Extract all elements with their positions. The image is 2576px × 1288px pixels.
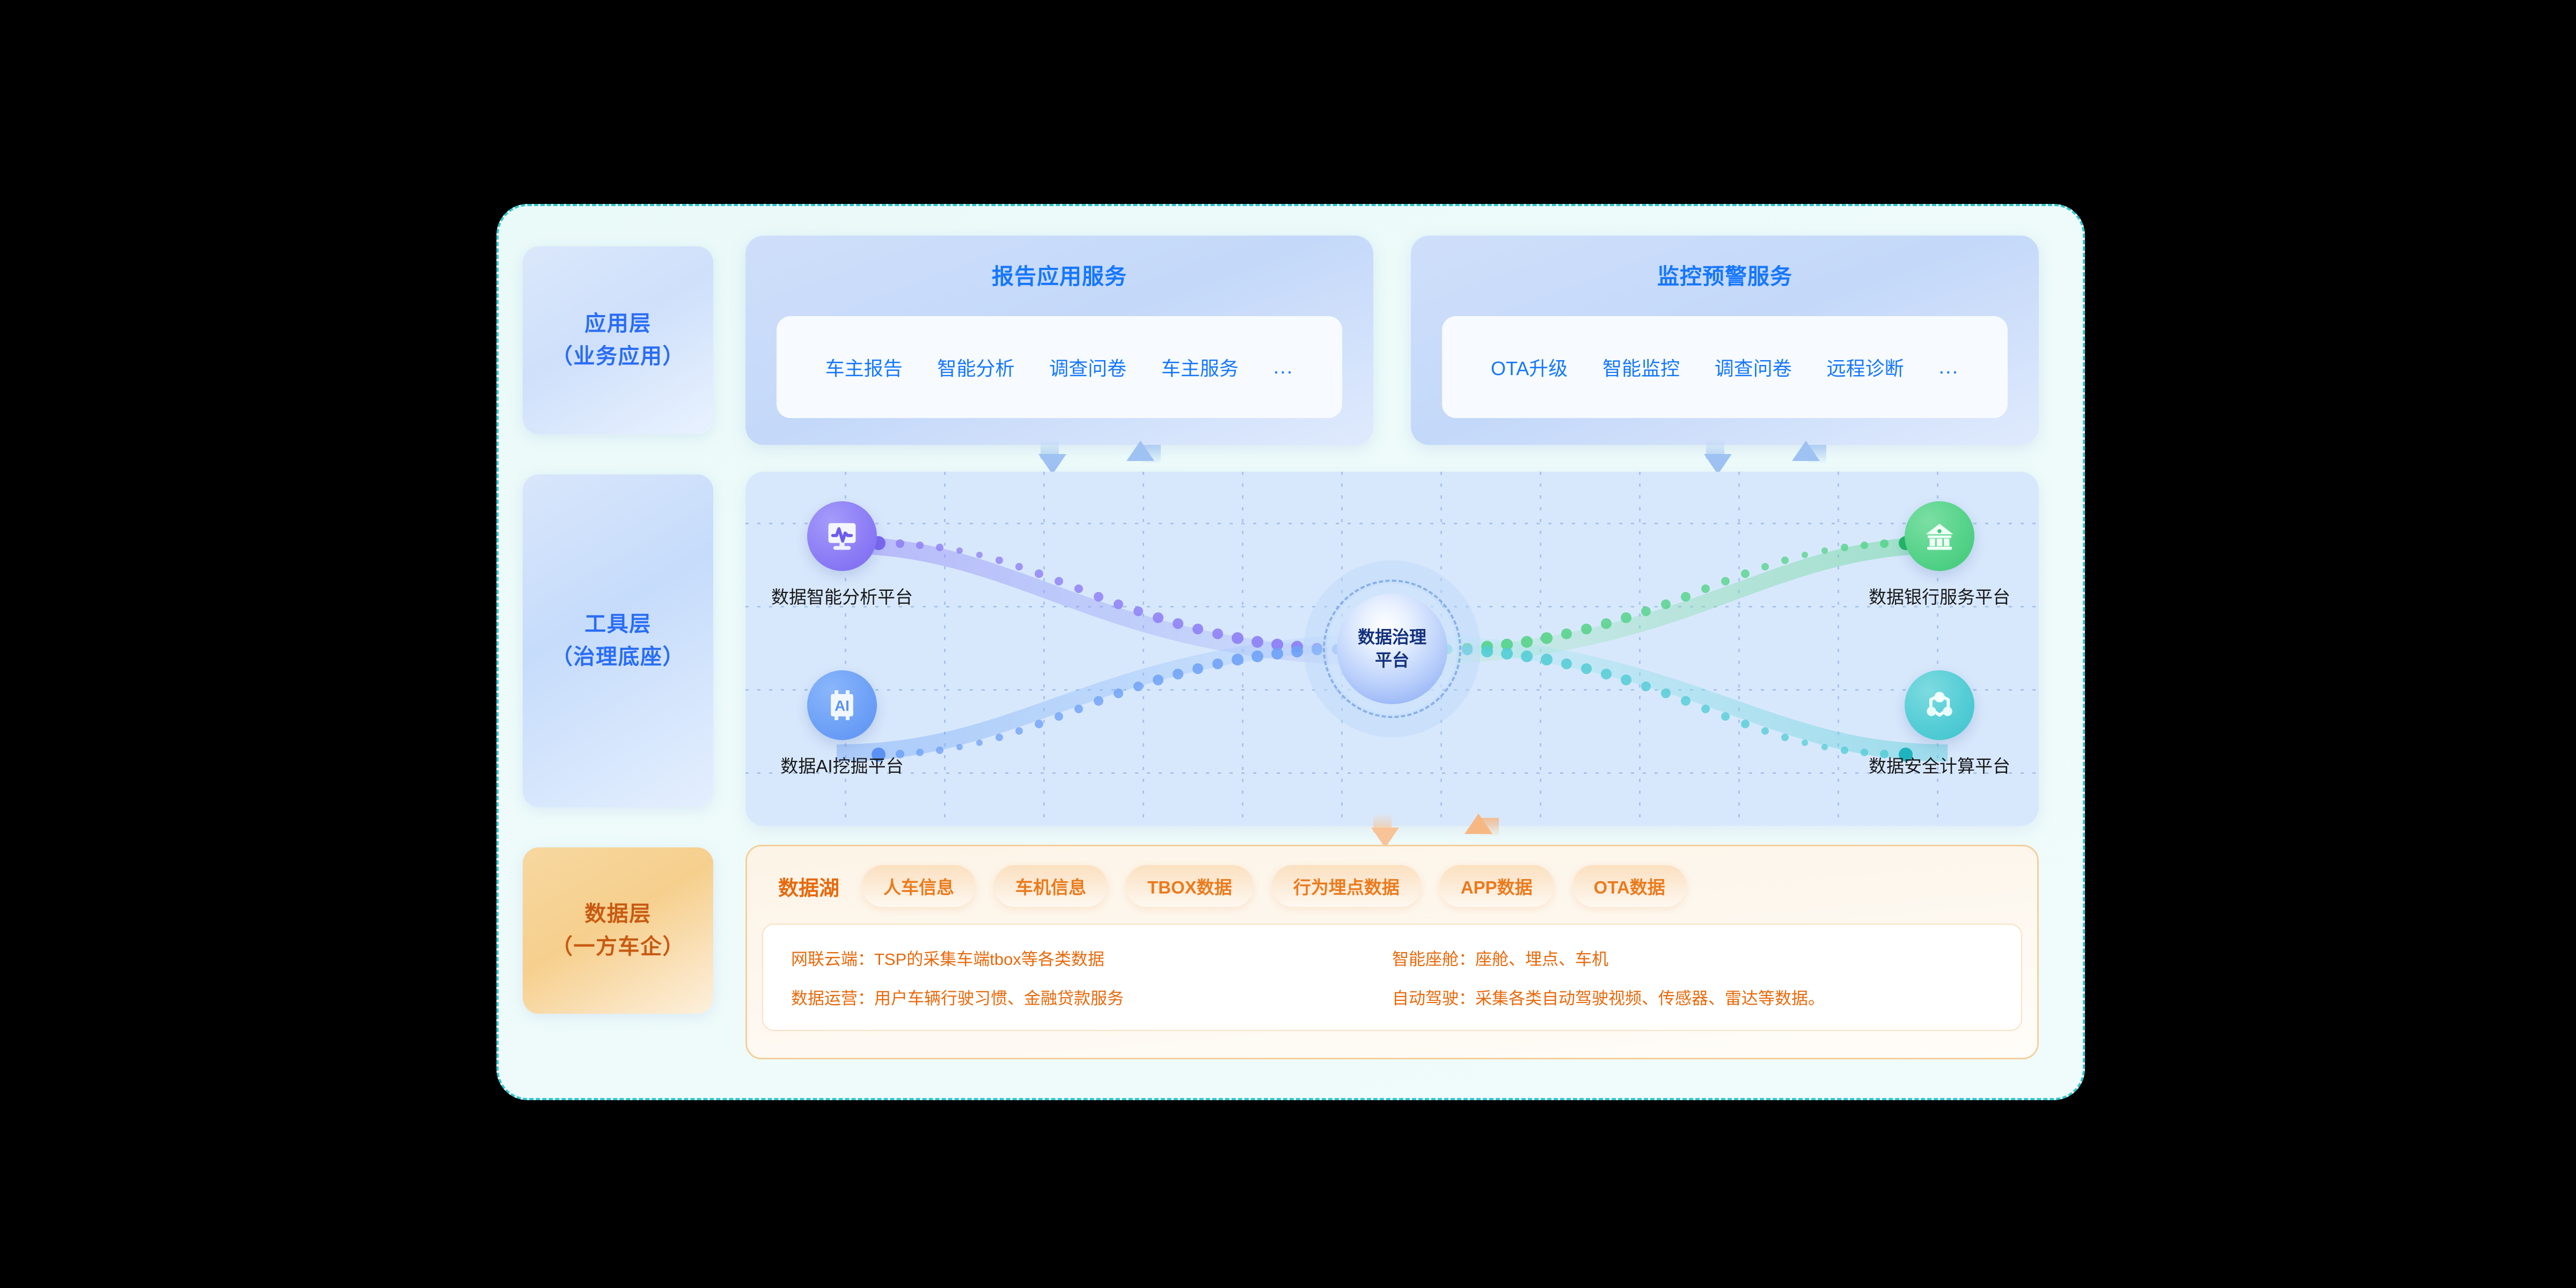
- monitor-waveform-icon: [807, 501, 877, 571]
- platform-label-bank: 数据银行服务平台: [1859, 583, 2020, 609]
- layer-data-sub: （一方车企）: [551, 931, 685, 963]
- data-lake-tag-1[interactable]: 车机信息: [994, 865, 1108, 907]
- arrow-up-right: [1792, 441, 1820, 461]
- service-report-item-2[interactable]: 调查问卷: [1049, 353, 1126, 381]
- platform-node-analysis[interactable]: 数据智能分析平台: [762, 501, 923, 609]
- ai-chip-icon: AI: [807, 670, 877, 740]
- hub-title-line2: 平台: [1375, 650, 1409, 670]
- arrow-up-left: [1126, 441, 1154, 461]
- layer-tool-sub: （治理底座）: [551, 641, 685, 674]
- service-report-item-more[interactable]: ...: [1274, 356, 1294, 379]
- description-left-1: 数据运营：用户车辆行驶习惯、金融贷款服务: [791, 985, 1392, 1009]
- service-report-item-1[interactable]: 智能分析: [937, 353, 1014, 381]
- svg-text:AI: AI: [835, 697, 850, 714]
- service-report-title: 报告应用服务: [745, 258, 1373, 290]
- central-hub[interactable]: 数据治理 平台: [1304, 560, 1481, 737]
- layer-application-name: 应用层: [551, 308, 685, 340]
- service-monitor-item-2[interactable]: 调查问卷: [1715, 353, 1792, 381]
- data-lake-tag-5[interactable]: OTA数据: [1572, 865, 1687, 907]
- service-monitor-item-1[interactable]: 智能监控: [1602, 353, 1680, 381]
- hub-title-line1: 数据治理: [1358, 627, 1426, 647]
- bank-icon: [1905, 501, 1974, 571]
- layer-card-data[interactable]: 数据层 （一方车企）: [523, 847, 713, 1014]
- platform-node-secure[interactable]: 数据安全计算平台: [1859, 670, 2020, 778]
- description-right-1: 自动驾驶：采集各类自动驾驶视频、传感器、雷达等数据。: [1392, 985, 1993, 1009]
- layer-tool-name: 工具层: [551, 608, 685, 641]
- layer-data-name: 数据层: [551, 898, 685, 931]
- service-card-monitor[interactable]: 监控预警服务 OTA升级 智能监控 调查问卷 远程诊断 ...: [1411, 236, 2039, 445]
- data-lake-panel: 数据湖 人车信息 车机信息 TBOX数据 行为埋点数据 APP数据 OTA数据 …: [745, 845, 2039, 1059]
- platform-node-ai[interactable]: AI 数据AI挖掘平台: [762, 670, 923, 778]
- service-monitor-item-3[interactable]: 远程诊断: [1827, 353, 1904, 381]
- data-lake-tag-0[interactable]: 人车信息: [862, 865, 976, 907]
- description-left-0: 网联云端：TSP的采集车端tbox等各类数据: [791, 946, 1392, 970]
- service-monitor-title: 监控预警服务: [1411, 258, 2039, 290]
- layer-application-sub: （业务应用）: [551, 340, 685, 373]
- data-lake-title: 数据湖: [778, 872, 839, 901]
- description-column-left: 网联云端：TSP的采集车端tbox等各类数据 数据运营：用户车辆行驶习惯、金融贷…: [791, 943, 1392, 1012]
- service-monitor-item-more[interactable]: ...: [1938, 356, 1959, 379]
- platform-label-secure: 数据安全计算平台: [1859, 752, 2020, 778]
- secure-node-icon: [1905, 670, 1974, 740]
- description-right-0: 智能座舱：座舱、埋点、车机: [1392, 946, 1993, 970]
- layer-card-application[interactable]: 应用层 （业务应用）: [523, 246, 713, 434]
- platform-node-bank[interactable]: 数据银行服务平台: [1859, 501, 2020, 609]
- arrow-up-data: [1465, 814, 1492, 834]
- service-report-item-0[interactable]: 车主报告: [825, 353, 903, 381]
- service-monitor-item-list: OTA升级 智能监控 调查问卷 远程诊断 ...: [1442, 316, 2008, 418]
- data-lake-tag-row: 数据湖 人车信息 车机信息 TBOX数据 行为埋点数据 APP数据 OTA数据: [762, 860, 2022, 912]
- data-lake-description-box: 网联云端：TSP的采集车端tbox等各类数据 数据运营：用户车辆行驶习惯、金融贷…: [762, 924, 2022, 1031]
- hub-core: 数据治理 平台: [1337, 594, 1447, 704]
- data-lake-tag-2[interactable]: TBOX数据: [1126, 865, 1254, 907]
- tool-layer-panel: 数据治理 平台 数据智能分析平台: [745, 472, 2039, 826]
- service-card-report[interactable]: 报告应用服务 车主报告 智能分析 调查问卷 车主服务 ...: [745, 236, 1373, 445]
- service-report-item-list: 车主报告 智能分析 调查问卷 车主服务 ...: [777, 316, 1342, 418]
- data-lake-tag-4[interactable]: APP数据: [1439, 865, 1554, 907]
- platform-label-analysis: 数据智能分析平台: [762, 583, 923, 609]
- platform-label-ai: 数据AI挖掘平台: [762, 752, 923, 778]
- layer-card-tool[interactable]: 工具层 （治理底座）: [523, 474, 713, 807]
- architecture-diagram-container: 应用层 （业务应用） 工具层 （治理底座） 数据层 （一方车企） 报告应用服务 …: [496, 204, 2085, 1100]
- service-monitor-item-0[interactable]: OTA升级: [1491, 353, 1568, 381]
- description-column-right: 智能座舱：座舱、埋点、车机 自动驾驶：采集各类自动驾驶视频、传感器、雷达等数据。: [1392, 943, 1993, 1012]
- data-lake-tag-3[interactable]: 行为埋点数据: [1272, 865, 1421, 907]
- service-report-item-3[interactable]: 车主服务: [1161, 353, 1239, 381]
